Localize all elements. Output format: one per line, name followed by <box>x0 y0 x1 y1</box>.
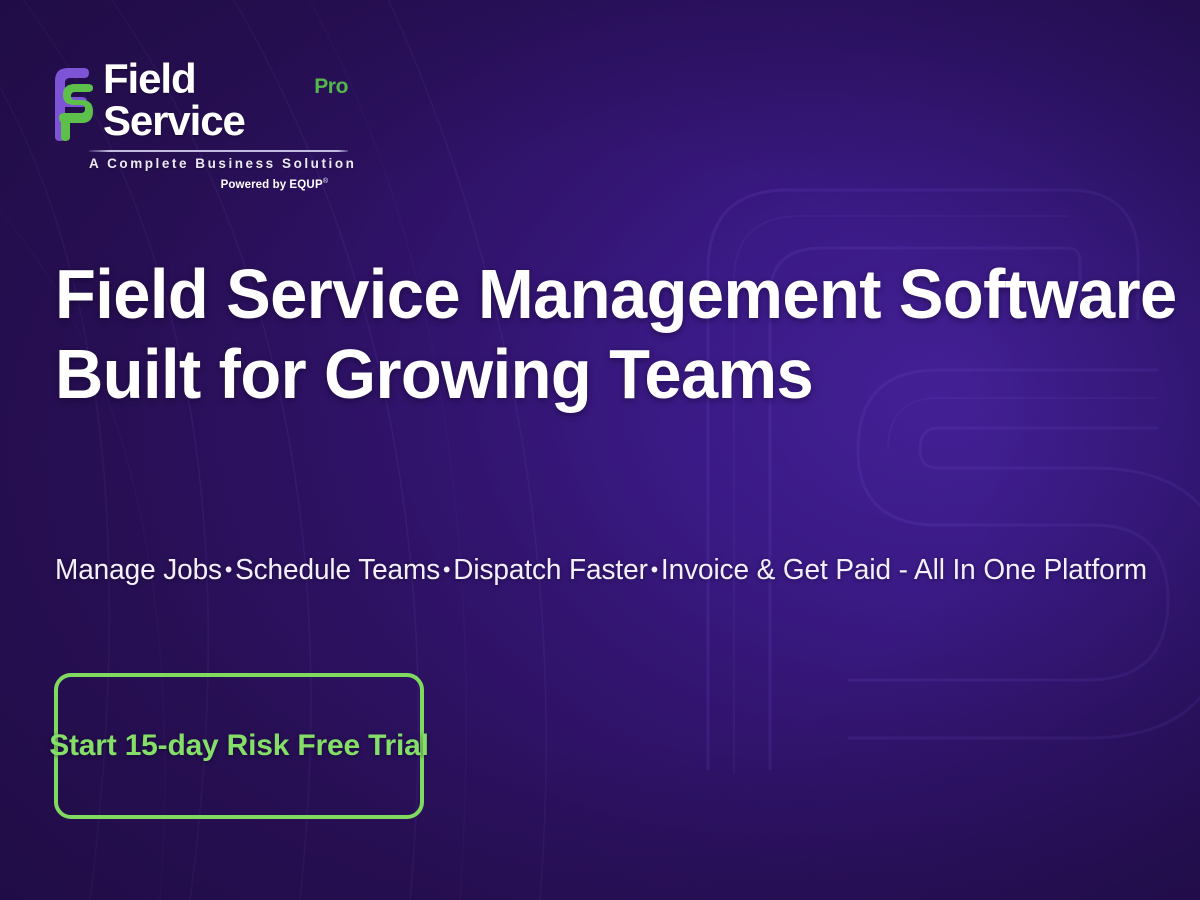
logo-divider <box>89 150 348 152</box>
bullet-separator-icon: • <box>648 557 661 582</box>
subheadline-part-2: Schedule Teams <box>235 554 440 586</box>
start-free-trial-button[interactable]: Start 15-day Risk Free Trial <box>54 673 424 819</box>
subheadline-part-1: Manage Jobs <box>55 554 222 586</box>
subheadline-part-3: Dispatch Faster <box>453 554 648 586</box>
page-title: Field Service Management Software Built … <box>55 255 1055 415</box>
fs-monogram-icon <box>48 63 94 141</box>
headline-line-2: Built for Growing Teams <box>55 335 1010 415</box>
brand-logo[interactable]: Field Service Pro A Complete Business So… <box>48 58 348 191</box>
hero-banner: Field Service Pro A Complete Business So… <box>0 0 1200 900</box>
fs-monogram-watermark-icon <box>638 120 1200 800</box>
powered-by-brand: EQUP <box>289 179 322 191</box>
powered-by-label: Powered by <box>221 179 287 191</box>
logo-tagline: A Complete Business Solution <box>89 156 348 171</box>
registered-mark-icon: ® <box>323 178 328 185</box>
start-free-trial-label: Start 15-day Risk Free Trial <box>49 729 429 763</box>
subheadline: Manage Jobs•Schedule Teams•Dispatch Fast… <box>55 554 1147 587</box>
logo-wordmark: Field Service Pro <box>103 58 348 146</box>
logo-row: Field Service Pro <box>48 58 348 146</box>
powered-by-credit: Powered by EQUP® <box>89 178 328 191</box>
logo-wordmark-suffix: Pro <box>314 76 348 97</box>
headline-line-1: Field Service Management Software <box>55 255 1010 335</box>
subheadline-part-4: Invoice & Get Paid - All In One Platform <box>661 554 1147 586</box>
bullet-separator-icon: • <box>222 557 235 582</box>
logo-wordmark-main: Field Service <box>103 58 310 142</box>
bullet-separator-icon: • <box>440 557 453 582</box>
